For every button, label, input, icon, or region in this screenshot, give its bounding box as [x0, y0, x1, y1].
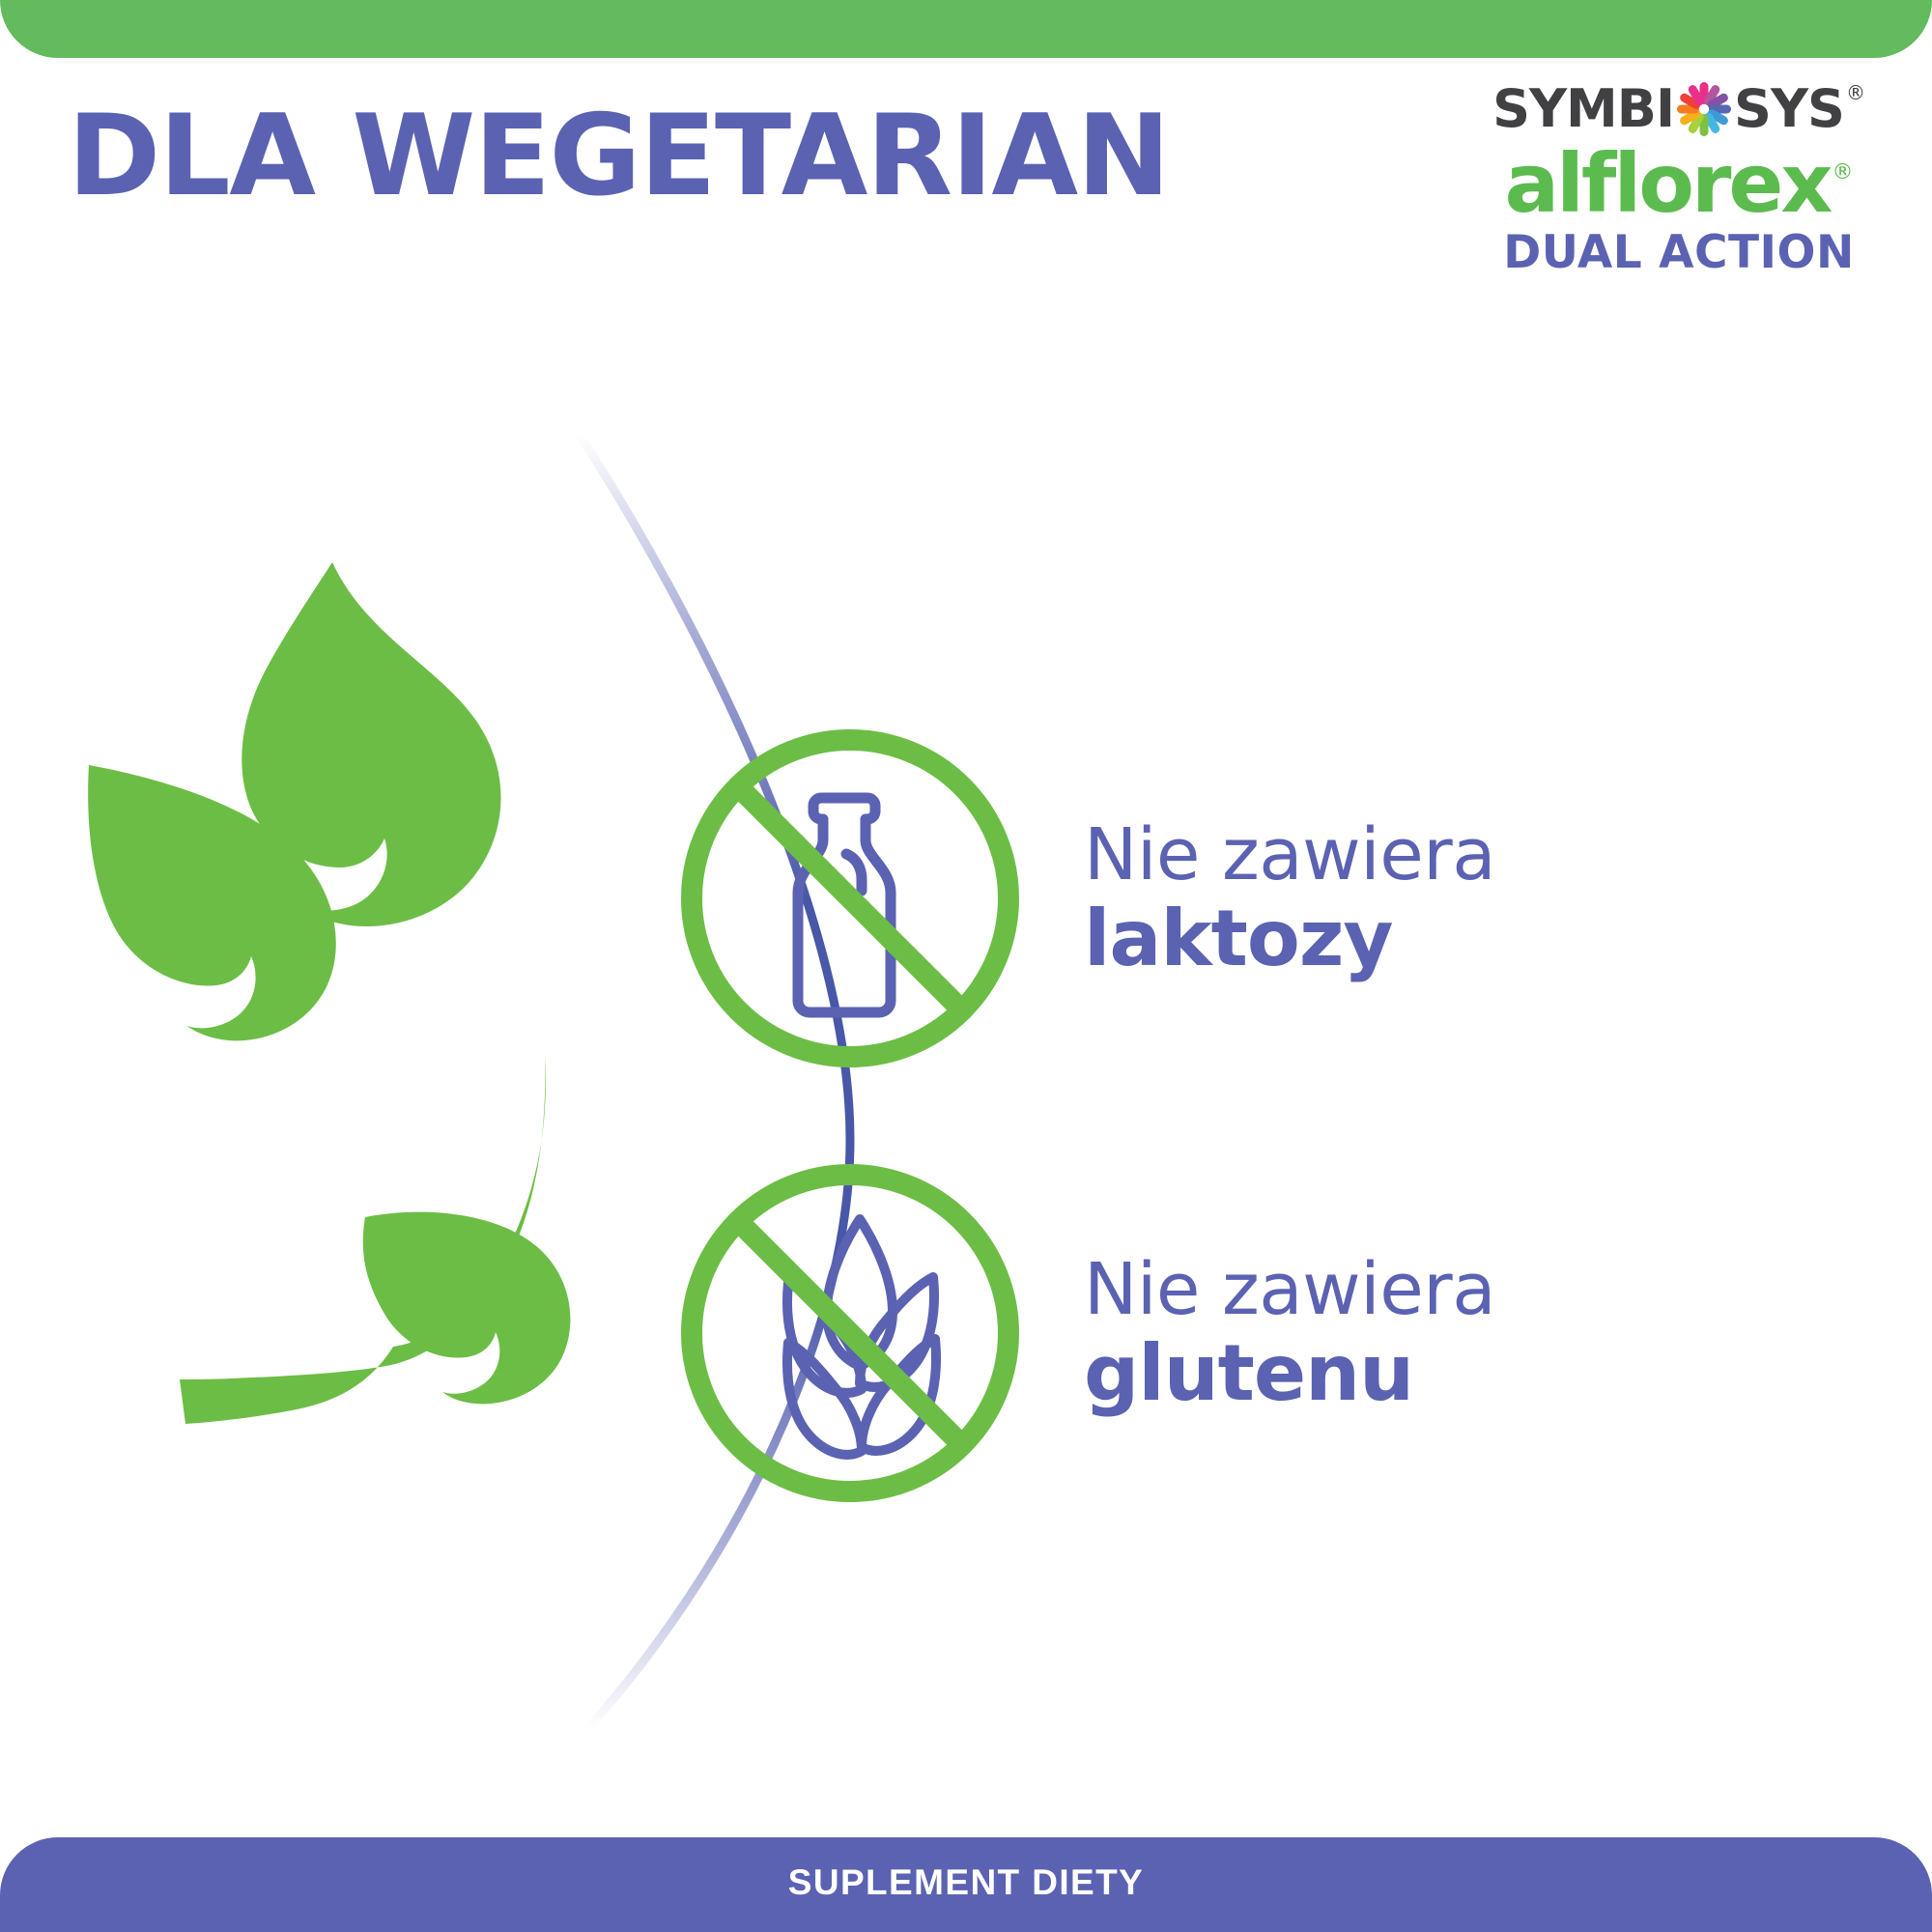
feature-no-gluten-text: Nie zawiera glutenu: [1084, 1250, 1495, 1416]
feature-line-1: Nie zawiera: [1084, 1250, 1495, 1330]
footer-bar: SUPLEMENT DIETY: [0, 1837, 1932, 1932]
three-leaves-icon: [58, 551, 599, 1478]
registered-trademark-icon: ®: [1846, 83, 1865, 102]
no-milk-bottle-icon: [676, 724, 1024, 1072]
symbiosys-flower-mark: [1676, 81, 1732, 137]
symbiosys-wordmark: SYMBI SYS ®: [1466, 79, 1891, 139]
curve-path: [580, 435, 850, 1729]
brand-lockup: SYMBI SYS ® alflorex ® DUAL ACTION: [1466, 79, 1891, 275]
top-green-bar: [0, 0, 1932, 58]
feature-line-2: laktozy: [1084, 895, 1495, 982]
feature-no-lactose: Nie zawiera laktozy: [676, 724, 1495, 1072]
alflorex-text: alflorex: [1504, 141, 1830, 226]
footer-label: SUPLEMENT DIETY: [788, 1862, 1144, 1903]
feature-line-2: glutenu: [1084, 1330, 1495, 1417]
symbiosys-text-right: SYS: [1734, 83, 1844, 135]
feature-line-1: Nie zawiera: [1084, 815, 1495, 895]
dual-action-text: DUAL ACTION: [1466, 230, 1891, 275]
symbiosys-text-left: SYMBI: [1492, 83, 1674, 135]
feature-no-gluten: Nie zawiera glutenu: [676, 1159, 1495, 1507]
feature-no-lactose-text: Nie zawiera laktozy: [1084, 815, 1495, 981]
registered-trademark-icon: ®: [1833, 162, 1854, 184]
alflorex-wordmark: alflorex ®: [1466, 141, 1891, 226]
page-title: DLA WEGETARIAN: [68, 100, 1169, 213]
poster-canvas: DLA WEGETARIAN SYMBI SYS ® alflorex ® DU…: [0, 0, 1932, 1932]
no-wheat-gluten-icon: [676, 1159, 1024, 1507]
